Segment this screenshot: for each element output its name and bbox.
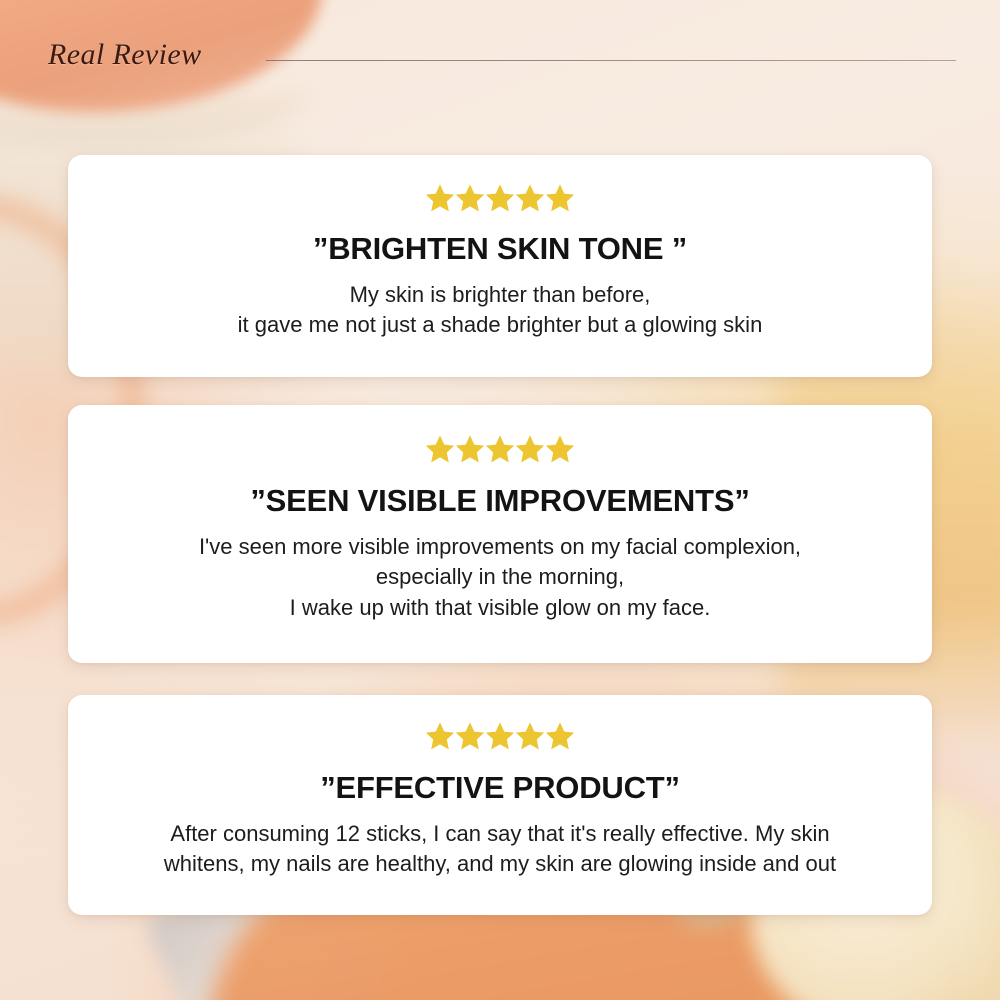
review-body-line: I've seen more visible improvements on m… — [199, 532, 801, 562]
star-icon — [423, 433, 457, 465]
review-body-line: My skin is brighter than before, — [238, 280, 763, 310]
review-body-line: whitens, my nails are healthy, and my sk… — [164, 849, 836, 879]
star-icon — [453, 182, 487, 214]
star-rating — [425, 182, 575, 214]
star-icon — [423, 720, 457, 752]
review-card[interactable]: ”EFFECTIVE PRODUCT” After consuming 12 s… — [68, 695, 932, 915]
star-icon — [543, 182, 577, 214]
review-title: ”EFFECTIVE PRODUCT” — [320, 770, 680, 806]
star-icon — [513, 720, 547, 752]
review-body-line: I wake up with that visible glow on my f… — [199, 593, 801, 623]
page-title: Real Review — [48, 38, 202, 72]
star-icon — [453, 720, 487, 752]
star-icon — [543, 720, 577, 752]
review-title: ”BRIGHTEN SKIN TONE ” — [313, 231, 687, 267]
review-body: My skin is brighter than before, it gave… — [238, 280, 763, 341]
review-title: ”SEEN VISIBLE IMPROVEMENTS” — [250, 483, 749, 519]
star-icon — [453, 433, 487, 465]
header-divider — [266, 60, 956, 61]
review-body: After consuming 12 sticks, I can say tha… — [164, 819, 836, 880]
review-body-line: it gave me not just a shade brighter but… — [238, 310, 763, 340]
star-icon — [483, 433, 517, 465]
star-rating — [425, 720, 575, 752]
review-body-line: After consuming 12 sticks, I can say tha… — [164, 819, 836, 849]
star-icon — [543, 433, 577, 465]
review-card-list: ”BRIGHTEN SKIN TONE ” My skin is brighte… — [0, 0, 1000, 1000]
review-body-line: especially in the morning, — [199, 562, 801, 592]
review-card[interactable]: ”SEEN VISIBLE IMPROVEMENTS” I've seen mo… — [68, 405, 932, 663]
star-icon — [513, 182, 547, 214]
review-page: Real Review ”BRIGHTEN SKIN TONE ” My ski… — [0, 0, 1000, 1000]
page-header: Real Review — [0, 0, 1000, 120]
review-card[interactable]: ”BRIGHTEN SKIN TONE ” My skin is brighte… — [68, 155, 932, 377]
review-body: I've seen more visible improvements on m… — [199, 532, 801, 623]
star-icon — [513, 433, 547, 465]
star-icon — [483, 182, 517, 214]
star-icon — [483, 720, 517, 752]
star-icon — [423, 182, 457, 214]
star-rating — [425, 433, 575, 465]
